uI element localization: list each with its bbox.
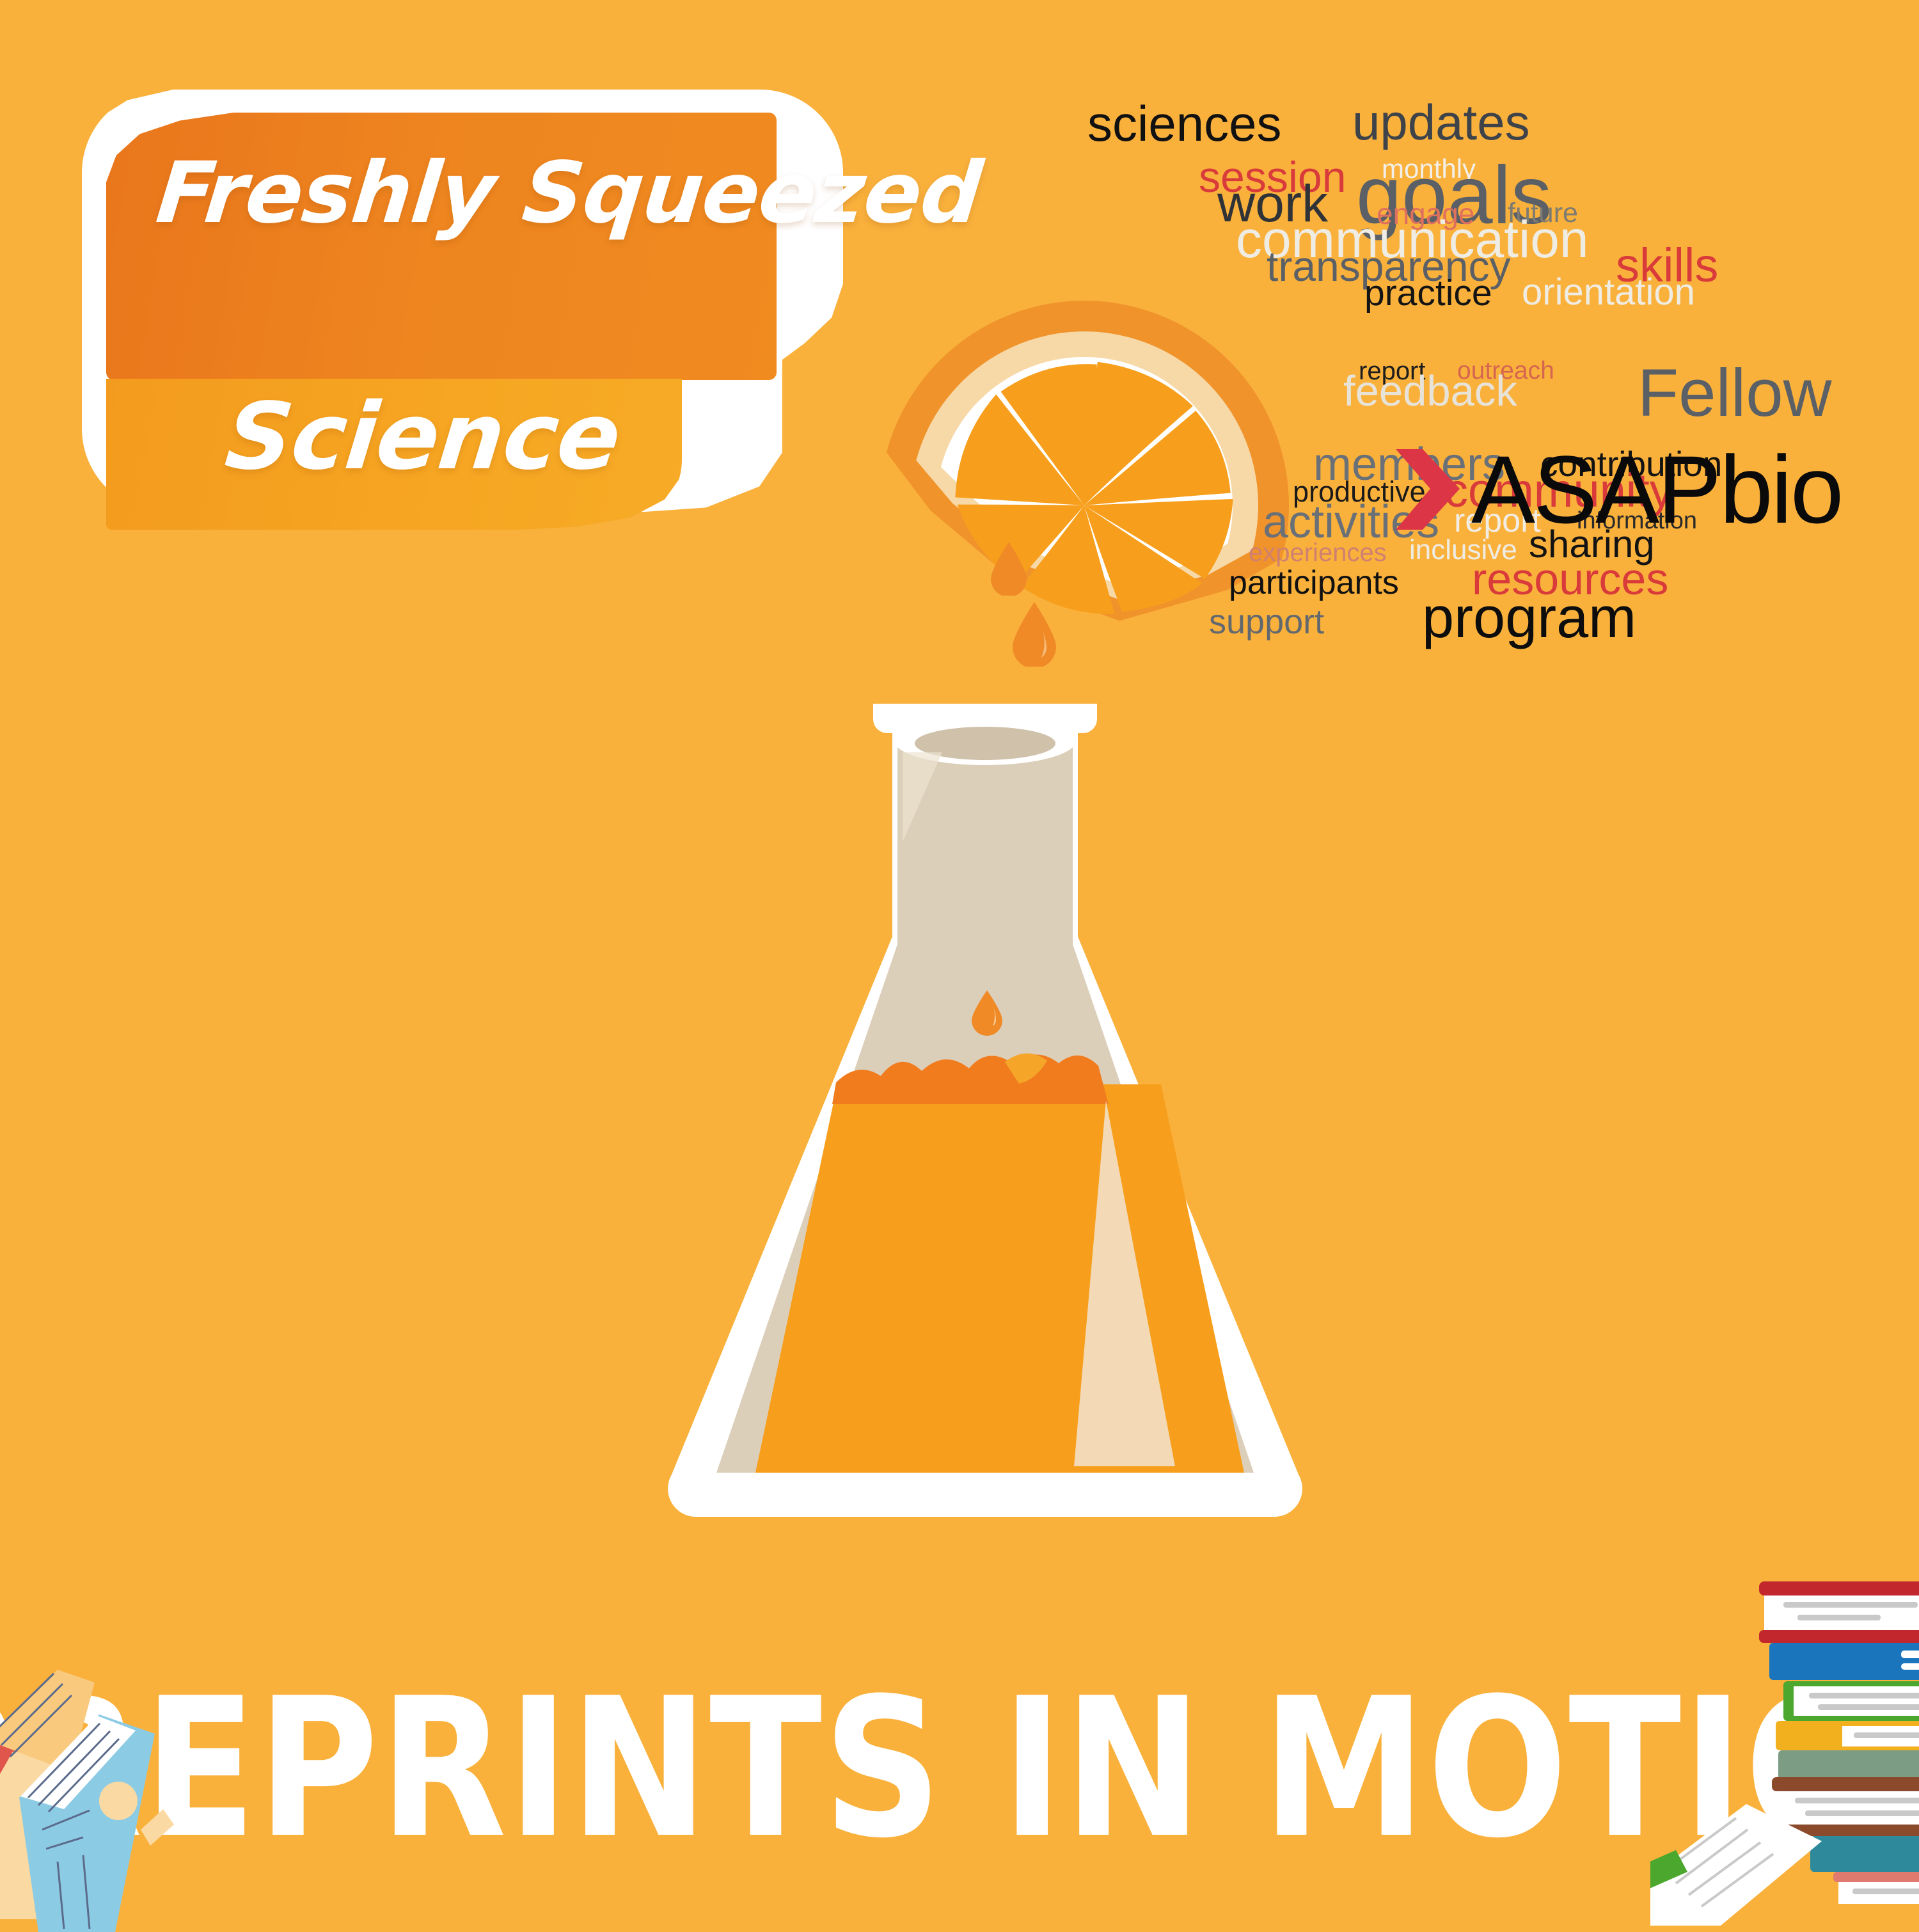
freshly-squeezed-science-badge: Freshly Squeezed Science — [82, 90, 843, 512]
word-cloud-term: orientation — [1522, 274, 1695, 311]
juice-drop-1 — [988, 541, 1029, 596]
juice-drop-2 — [1009, 600, 1059, 667]
badge-title-line2: Science — [221, 390, 807, 482]
books-left-illustration — [0, 1638, 262, 1932]
word-cloud-term: experiences — [1249, 540, 1387, 566]
word-cloud-term: program — [1422, 589, 1636, 647]
word-cloud: sciencesupdatesmonthlysessiongoalsworken… — [1087, 83, 1919, 883]
stacked-books-icon — [0, 1638, 262, 1932]
word-cloud-term: feedback — [1343, 370, 1517, 413]
word-cloud-term: Fellow — [1638, 360, 1831, 427]
word-cloud-term: practice — [1364, 275, 1492, 312]
book-stack-icon — [1650, 1561, 1919, 1926]
word-cloud-term: participants — [1229, 566, 1399, 599]
word-cloud-term: sciences — [1087, 99, 1281, 148]
asapbio-wordmark: ASAPbio — [1471, 441, 1842, 537]
bottom-banner: PREPRINTS IN MOTION — [0, 1663, 1919, 1874]
badge-title-line1: Freshly Squeezed — [153, 151, 802, 235]
banner-title: PREPRINTS IN MOTION — [0, 1673, 1919, 1865]
word-cloud-term: updates — [1352, 97, 1530, 147]
poster-canvas: Freshly Squeezed Science — [0, 0, 1919, 1919]
books-right-illustration — [1650, 1561, 1919, 1926]
chevron-right-icon — [1393, 448, 1462, 531]
asapbio-logo: ASAPbio — [1393, 441, 1842, 537]
word-cloud-term: support — [1209, 605, 1324, 639]
